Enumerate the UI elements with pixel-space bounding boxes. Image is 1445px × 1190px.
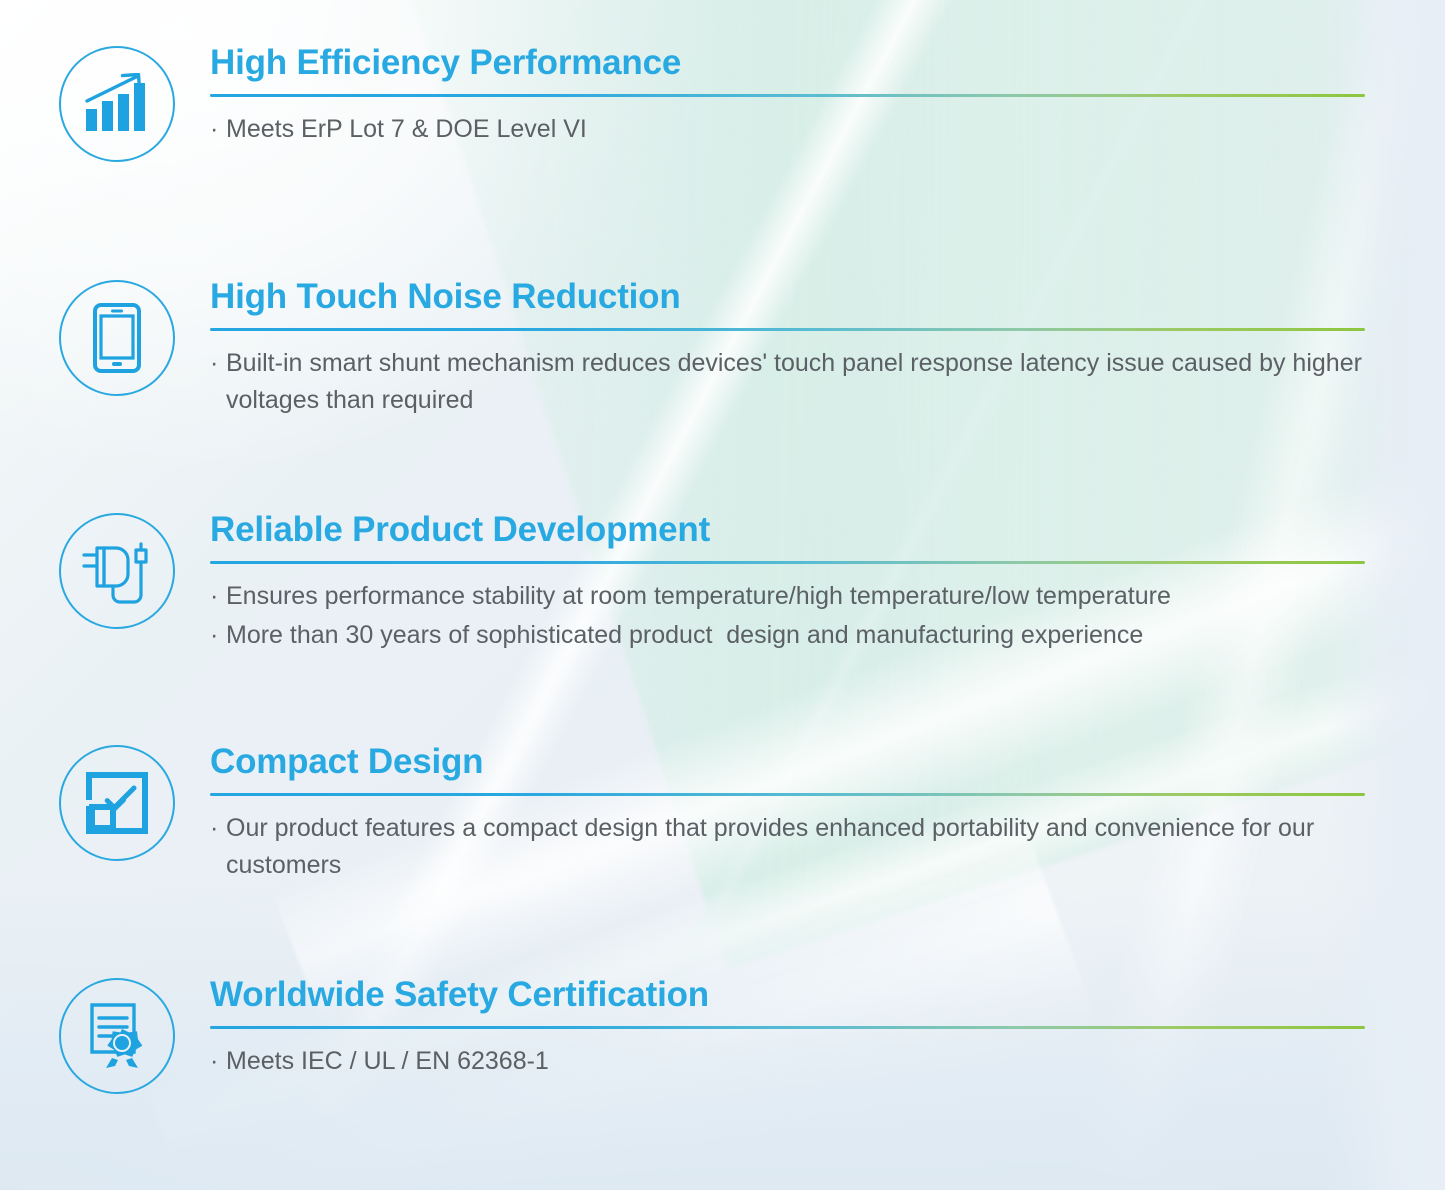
feature-icon-container <box>52 511 182 629</box>
bullet-item: · Our product features a compact design … <box>210 810 1382 885</box>
bullet-text: Built-in smart shunt mechanism reduces d… <box>226 345 1382 420</box>
bullet-text: Ensures performance stability at room te… <box>226 578 1382 616</box>
feature-bullet-list: · Our product features a compact design … <box>210 810 1382 885</box>
feature-icon-container <box>52 278 182 396</box>
bullet-marker: · <box>210 1043 226 1081</box>
bar-chart-growth-icon <box>84 73 150 135</box>
feature-divider <box>210 1026 1365 1029</box>
feature-bullet-list: · Meets IEC / UL / EN 62368-1 <box>210 1043 1382 1081</box>
feature-divider <box>210 561 1365 564</box>
power-adapter-icon <box>80 536 154 606</box>
bullet-item: · Built-in smart shunt mechanism reduces… <box>210 345 1382 420</box>
bullet-text: More than 30 years of sophisticated prod… <box>226 617 1382 655</box>
icon-circle-frame <box>59 513 175 629</box>
bullet-item: · Meets ErP Lot 7 & DOE Level VI <box>210 111 1382 149</box>
feature-title: Compact Design <box>210 743 1382 781</box>
bullet-marker: · <box>210 111 226 149</box>
feature-icon-container <box>52 743 182 861</box>
smartphone-icon <box>93 303 141 373</box>
feature-highlights-page: High Efficiency Performance · Meets ErP … <box>0 0 1445 1190</box>
feature-bullet-list: · Built-in smart shunt mechanism reduces… <box>210 345 1382 420</box>
feature-title: High Touch Noise Reduction <box>210 278 1382 316</box>
feature-bullet-list: · Meets ErP Lot 7 & DOE Level VI <box>210 111 1382 149</box>
feature-icon-container <box>52 976 182 1094</box>
feature-body: High Touch Noise Reduction · Built-in sm… <box>182 278 1382 420</box>
background-streak-4 <box>273 356 1445 1034</box>
feature-body: High Efficiency Performance · Meets ErP … <box>182 44 1382 148</box>
feature-body: Worldwide Safety Certification · Meets I… <box>182 976 1382 1080</box>
bullet-text: Meets ErP Lot 7 & DOE Level VI <box>226 111 1382 149</box>
feature-divider <box>210 793 1365 796</box>
feature-item-high-touch-noise-reduction: High Touch Noise Reduction · Built-in sm… <box>52 278 1382 420</box>
feature-title: Reliable Product Development <box>210 511 1382 549</box>
bullet-marker: · <box>210 617 226 655</box>
bullet-marker: · <box>210 578 226 616</box>
bullet-item: · Meets IEC / UL / EN 62368-1 <box>210 1043 1382 1081</box>
feature-item-worldwide-safety-certification: Worldwide Safety Certification · Meets I… <box>52 976 1382 1094</box>
feature-body: Compact Design · Our product features a … <box>182 743 1382 885</box>
bullet-marker: · <box>210 345 226 383</box>
compact-resize-icon <box>85 771 149 835</box>
feature-bullet-list: · Ensures performance stability at room … <box>210 578 1382 655</box>
icon-circle-frame <box>59 745 175 861</box>
bullet-marker: · <box>210 810 226 848</box>
icon-circle-frame <box>59 978 175 1094</box>
feature-divider <box>210 328 1365 331</box>
bullet-text: Meets IEC / UL / EN 62368-1 <box>226 1043 1382 1081</box>
feature-item-high-efficiency-performance: High Efficiency Performance · Meets ErP … <box>52 44 1382 162</box>
feature-title: High Efficiency Performance <box>210 44 1382 82</box>
feature-icon-container <box>52 44 182 162</box>
icon-circle-frame <box>59 280 175 396</box>
bullet-item: · More than 30 years of sophisticated pr… <box>210 617 1382 655</box>
icon-circle-frame <box>59 46 175 162</box>
feature-body: Reliable Product Development · Ensures p… <box>182 511 1382 655</box>
bullet-text: Our product features a compact design th… <box>226 810 1382 885</box>
bullet-item: · Ensures performance stability at room … <box>210 578 1382 616</box>
certificate-seal-icon <box>84 1002 150 1070</box>
feature-divider <box>210 94 1365 97</box>
feature-title: Worldwide Safety Certification <box>210 976 1382 1014</box>
feature-item-reliable-product-development: Reliable Product Development · Ensures p… <box>52 511 1382 655</box>
feature-item-compact-design: Compact Design · Our product features a … <box>52 743 1382 885</box>
